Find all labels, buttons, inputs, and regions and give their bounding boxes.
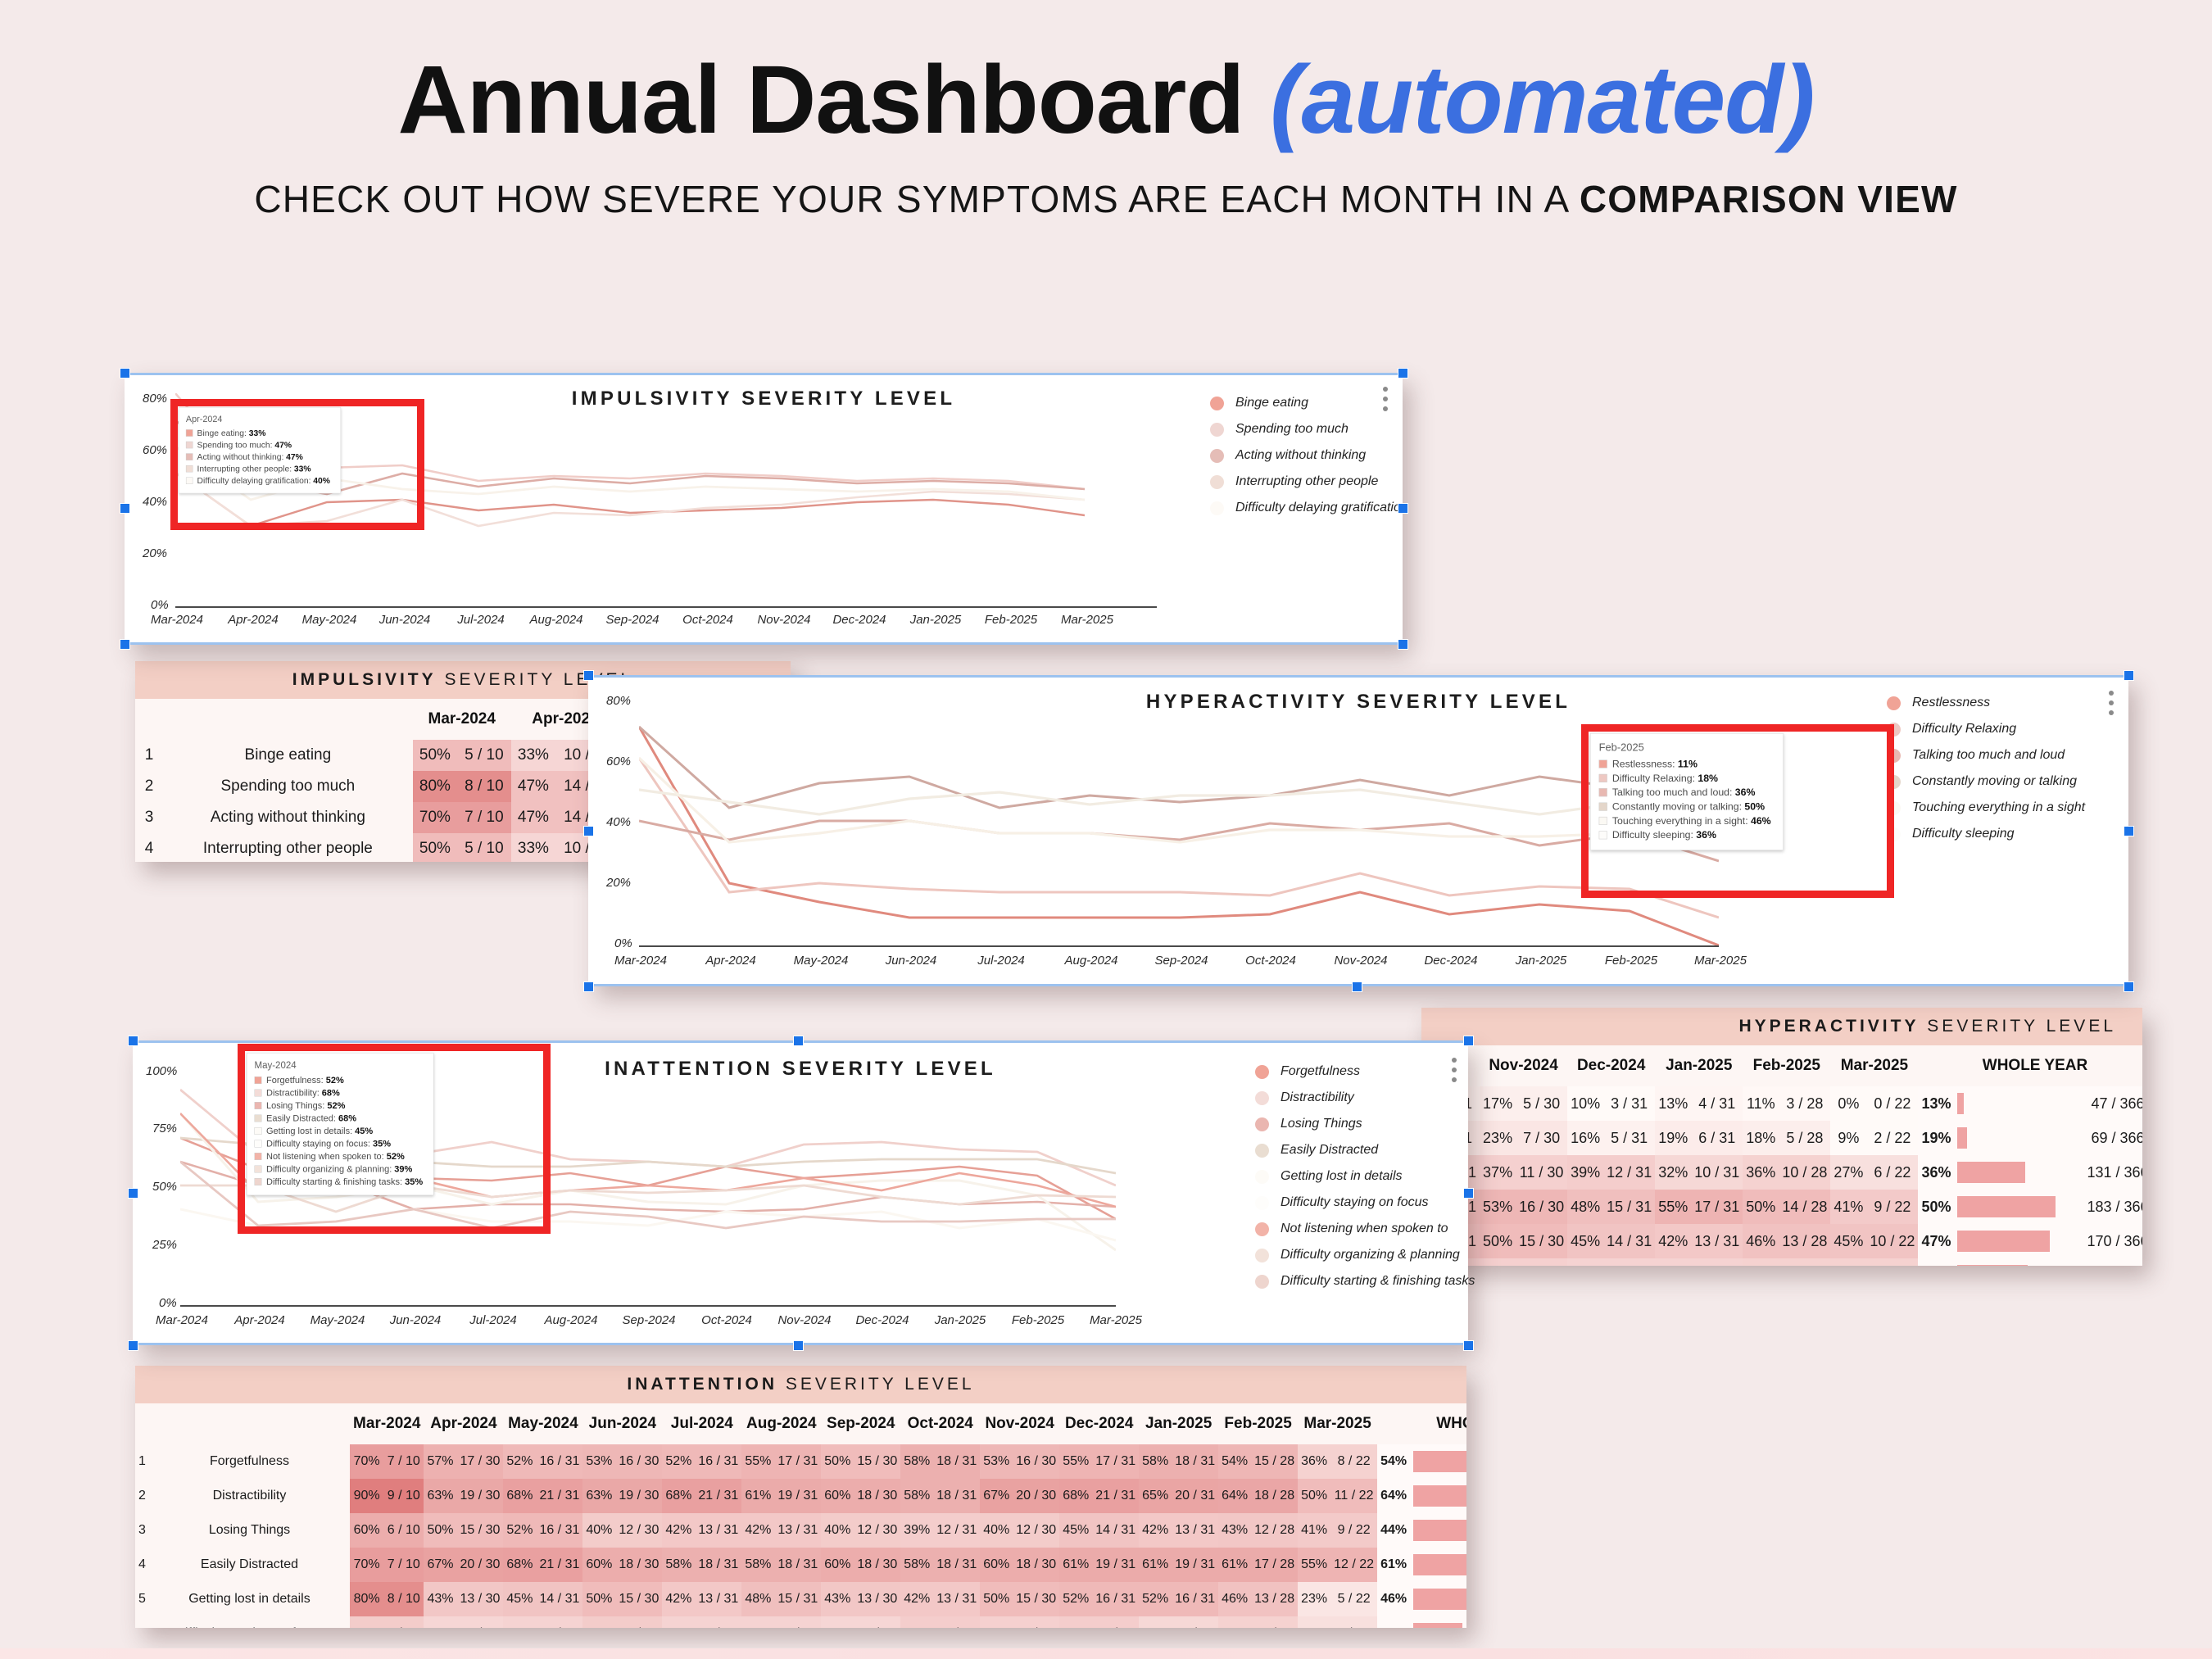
col-month: Mar-2025: [1830, 1045, 1918, 1086]
x-tick: Mar-2024: [614, 954, 667, 968]
x-tick: Jun-2024: [886, 954, 937, 968]
cell-fraction: 12 / 31: [1092, 1616, 1139, 1628]
x-tick: Sep-2024: [605, 613, 659, 627]
col-month: Mar-2025: [1298, 1403, 1377, 1444]
cell-fraction: 12 / 31: [933, 1616, 980, 1628]
cell-fraction: 8 / 22: [1330, 1444, 1377, 1479]
cell-percent: 41%: [1830, 1190, 1866, 1224]
cell-percent: 41%: [1298, 1513, 1330, 1548]
whole-year-bar-track: [1957, 1162, 2080, 1183]
whole-year-bar: [1413, 1589, 1466, 1610]
x-tick: Jul-2024: [977, 954, 1025, 968]
tooltip-swatch: [1599, 774, 1607, 782]
cell-percent: 42%: [1655, 1224, 1691, 1258]
cell-fraction: 13 / 31: [1691, 1224, 1743, 1258]
selection-handle[interactable]: [128, 1188, 138, 1199]
cell-percent: 36%: [1218, 1616, 1251, 1628]
whole-year-bar-track: [1413, 1623, 1466, 1628]
cell-fraction: 9 / 10: [383, 1479, 424, 1513]
row-label: Acting without thinking: [163, 802, 413, 833]
whole-year-bar-cell: [1954, 1258, 2083, 1266]
x-tick: Jun-2024: [390, 1313, 442, 1327]
cell-fraction: 4 / 31: [1691, 1086, 1743, 1121]
cell-percent: 47%: [511, 771, 555, 802]
cell-percent: 42%: [1139, 1513, 1172, 1548]
col-index: [135, 699, 163, 740]
selection-handle[interactable]: [2124, 670, 2134, 681]
tooltip-swatch: [255, 1178, 262, 1185]
cell-percent: 58%: [1139, 1444, 1172, 1479]
tooltip-swatch: [255, 1153, 262, 1160]
legend-item[interactable]: Difficulty starting & finishing tasks: [1255, 1274, 1475, 1289]
selection-handle[interactable]: [1398, 503, 1408, 514]
tooltip-row: Easily Distracted:68%: [255, 1113, 424, 1124]
cell-fraction: 5 / 10: [457, 833, 511, 862]
tooltip-row: Interrupting other people:33%: [186, 464, 330, 474]
table-row: 10 / 3137%11 / 3035%11 / 3135%11 / 3136%…: [1421, 1258, 2142, 1266]
hyperactivity-plot: [639, 696, 1719, 945]
cell-fraction: 8 / 10: [457, 771, 511, 802]
legend-color-dot: [1210, 475, 1224, 489]
x-tick: Jan-2025: [935, 1313, 986, 1327]
selection-handle[interactable]: [2124, 826, 2134, 836]
tooltip-label: Constantly moving or talking:: [1612, 800, 1742, 813]
legend-color-dot: [1255, 1065, 1269, 1079]
legend-item[interactable]: Touching everything in a sight: [1887, 800, 2085, 815]
whole-year-bar: [1413, 1520, 1466, 1541]
whole-year-percent: 54%: [1377, 1444, 1410, 1479]
tooltip-label: Spending too much:: [197, 440, 273, 450]
cell-percent: 80%: [413, 771, 457, 802]
cell-fraction: 18 / 31: [695, 1548, 741, 1582]
tooltip-row: Difficulty sleeping:36%: [1599, 829, 1771, 841]
tooltip-value: 36%: [1735, 786, 1756, 799]
selection-handle[interactable]: [583, 670, 594, 681]
selection-handle[interactable]: [583, 981, 594, 992]
whole-year-bar-track: [1413, 1589, 1466, 1610]
row-index: 1: [135, 1444, 149, 1479]
legend-color-dot: [1255, 1275, 1269, 1289]
cell-fraction: 14 / 31: [1603, 1224, 1655, 1258]
row-label: Losing Things: [149, 1513, 350, 1548]
cell-fraction: 10 / 30: [854, 1616, 900, 1628]
inattention-table-title-rest: SEVERITY LEVEL: [777, 1375, 975, 1394]
x-tick: Feb-2025: [985, 613, 1037, 627]
legend-item[interactable]: Easily Distracted: [1255, 1143, 1475, 1158]
legend-color-dot: [1255, 1091, 1269, 1105]
x-tick: Jan-2025: [1516, 954, 1567, 968]
cell-fraction: 16 / 31: [536, 1513, 582, 1548]
whole-year-bar-track: [1957, 1093, 2080, 1114]
x-tick: Mar-2025: [1090, 1313, 1142, 1327]
cell-fraction: 12 / 30: [854, 1513, 900, 1548]
cell-percent: 67%: [424, 1548, 456, 1582]
page-title-main: Annual Dashboard: [398, 46, 1271, 154]
legend-color-dot: [1255, 1144, 1269, 1158]
cell-fraction: 10 / 31: [1172, 1616, 1218, 1628]
tooltip-label: Losing Things:: [266, 1100, 324, 1111]
cell-percent: 52%: [1059, 1582, 1092, 1616]
whole-year-bar-cell: [1410, 1548, 1466, 1582]
whole-year-bar-cell: [1410, 1582, 1466, 1616]
inattention-table-header: INATTENTION SEVERITY LEVEL: [135, 1366, 1466, 1403]
tooltip-value: 45%: [355, 1126, 373, 1136]
tooltip-value: 47%: [274, 440, 292, 450]
tooltip-swatch: [1599, 788, 1607, 796]
legend-item[interactable]: Difficulty organizing & planning: [1255, 1248, 1475, 1262]
cell-fraction: 7 / 30: [1516, 1121, 1567, 1155]
cell-percent: 52%: [503, 1513, 536, 1548]
legend-item[interactable]: Not listening when spoken to: [1255, 1222, 1475, 1236]
col-index: [135, 1403, 149, 1444]
cell-percent: 50%: [1480, 1224, 1516, 1258]
cell-percent: 17%: [1480, 1086, 1516, 1121]
selection-handle[interactable]: [120, 639, 130, 650]
selection-handle[interactable]: [1398, 368, 1408, 378]
cell-percent: 45%: [1059, 1513, 1092, 1548]
tooltip-label: Difficulty starting & finishing tasks:: [266, 1176, 402, 1187]
whole-year-bar: [1957, 1127, 1967, 1149]
cell-fraction: 11 / 30: [1516, 1258, 1567, 1266]
selection-handle[interactable]: [1398, 639, 1408, 650]
table-row: 5 / 3123%7 / 3016%5 / 3119%6 / 3118%5 / …: [1421, 1121, 2142, 1155]
cell-fraction: 15 / 31: [774, 1582, 821, 1616]
legend-item[interactable]: Difficulty staying on focus: [1255, 1195, 1475, 1210]
cell-fraction: 15 / 30: [854, 1444, 900, 1479]
tooltip-value: 33%: [249, 428, 266, 437]
col-month: Dec-2024: [1567, 1045, 1655, 1086]
whole-year-bar: [1957, 1162, 2025, 1183]
cell-percent: 61%: [741, 1479, 774, 1513]
legend-color-dot: [1255, 1117, 1269, 1131]
row-label: Easily Distracted: [149, 1548, 350, 1582]
hyperactivity-table: 2024 Nov-2024 Dec-2024 Jan-2025 Feb-2025…: [1421, 1045, 2142, 1266]
legend-item[interactable]: Binge eating: [1210, 396, 1408, 410]
hyperactivity-table-title: HYPERACTIVITY SEVERITY LEVEL: [1738, 1017, 2116, 1036]
cell-percent: 57%: [424, 1444, 456, 1479]
x-tick: Nov-2024: [757, 613, 810, 627]
tooltip-label: Difficulty organizing & planning:: [266, 1164, 392, 1175]
whole-year-bar: [1413, 1485, 1466, 1507]
cell-percent: 58%: [662, 1548, 695, 1582]
whole-year-bar-track: [1413, 1520, 1466, 1541]
table-row: 12 / 3137%11 / 3039%12 / 3132%10 / 3136%…: [1421, 1155, 2142, 1190]
legend-label: Losing Things: [1281, 1117, 1362, 1131]
col-month: Jan-2025: [1655, 1045, 1743, 1086]
tooltip-date: Apr-2024: [186, 414, 330, 424]
x-tick: May-2024: [794, 954, 849, 968]
hyperactivity-chart-panel[interactable]: HYPERACTIVITY SEVERITY LEVEL 80% 60% 40%…: [588, 675, 2128, 986]
page-subtitle-pre: CHECK OUT HOW SEVERE YOUR SYMPTOMS ARE E…: [254, 178, 1580, 220]
y-tick: 60%: [143, 443, 167, 457]
cell-percent: 11%: [1743, 1086, 1779, 1121]
inattention-legend: ForgetfulnessDistractibilityLosing Thing…: [1255, 1064, 1475, 1300]
tooltip-swatch: [186, 478, 193, 484]
selection-handle[interactable]: [128, 1036, 138, 1046]
hyperactivity-tooltip: Feb-2025 Restlessness:11%Difficulty Rela…: [1590, 733, 1784, 850]
y-tick: 100%: [146, 1064, 177, 1078]
cell-percent: 40%: [582, 1513, 615, 1548]
y-tick: 0%: [159, 1296, 177, 1310]
cell-percent: 60%: [821, 1479, 854, 1513]
x-tick: Sep-2024: [622, 1313, 675, 1327]
cell-percent: 50%: [821, 1444, 854, 1479]
legend-label: Interrupting other people: [1235, 474, 1378, 489]
cell-percent: 40%: [350, 1616, 383, 1628]
row-index: 3: [135, 802, 163, 833]
cell-percent: 33%: [424, 1616, 456, 1628]
tooltip-value: 33%: [294, 464, 311, 474]
x-tick: Aug-2024: [1064, 954, 1117, 968]
legend-item[interactable]: Difficulty Relaxing: [1887, 722, 2085, 737]
legend-item[interactable]: Acting without thinking: [1210, 448, 1408, 463]
tooltip-row: Acting without thinking:47%: [186, 452, 330, 462]
cell-percent: 53%: [1480, 1190, 1516, 1224]
cell-percent: 35%: [503, 1616, 536, 1628]
cell-fraction: 15 / 30: [456, 1513, 503, 1548]
col-month: Jan-2025: [1139, 1403, 1218, 1444]
tooltip-row: Difficulty Relaxing:18%: [1599, 773, 1771, 785]
cell-percent: 35%: [1655, 1258, 1691, 1266]
cell-percent: 45%: [1830, 1224, 1866, 1258]
selection-handle[interactable]: [793, 1340, 804, 1351]
y-tick: 25%: [152, 1238, 177, 1252]
tooltip-label: Acting without thinking:: [197, 452, 284, 462]
cell-percent: 58%: [900, 1444, 933, 1479]
x-tick: Feb-2025: [1012, 1313, 1064, 1327]
cell-fraction: 3 / 28: [1779, 1086, 1830, 1121]
cell-percent: 52%: [1139, 1582, 1172, 1616]
cell-fraction: 18 / 30: [854, 1548, 900, 1582]
col-month: Sep-2024: [821, 1403, 900, 1444]
x-tick: Apr-2024: [228, 613, 278, 627]
cell-percent: 63%: [582, 1479, 615, 1513]
cell-percent: 54%: [1218, 1444, 1251, 1479]
y-tick: 20%: [143, 546, 167, 560]
y-tick: 0%: [614, 936, 632, 950]
whole-year-bar-cell: [1954, 1155, 2083, 1190]
row-index: 4: [135, 833, 163, 862]
whole-year-percent: 46%: [1377, 1582, 1410, 1616]
cell-percent: 0%: [1830, 1086, 1866, 1121]
tooltip-row: Getting lost in details:45%: [255, 1126, 424, 1136]
legend-item[interactable]: Difficulty delaying gratification: [1210, 501, 1408, 515]
col-month: Dec-2024: [1059, 1403, 1139, 1444]
selection-handle[interactable]: [120, 368, 130, 378]
x-tick: Dec-2024: [832, 613, 886, 627]
chart-menu-icon[interactable]: [2109, 691, 2114, 720]
whole-year-total: 134 / 366: [2083, 1258, 2142, 1266]
cell-percent: 46%: [1218, 1582, 1251, 1616]
tooltip-label: Talking too much and loud:: [1612, 786, 1733, 799]
col-month: Apr-2024: [424, 1403, 503, 1444]
cell-percent: 70%: [350, 1444, 383, 1479]
cell-fraction: 16 / 31: [695, 1444, 741, 1479]
legend-item[interactable]: Constantly moving or talking: [1887, 774, 2085, 789]
cell-percent: 50%: [980, 1582, 1013, 1616]
inattention-table: Mar-2024Apr-2024May-2024Jun-2024Jul-2024…: [135, 1403, 1466, 1628]
cell-fraction: 18 / 28: [1251, 1479, 1298, 1513]
whole-year-bar-track: [1957, 1127, 2080, 1149]
cell-fraction: 15 / 30: [615, 1582, 662, 1616]
cell-fraction: 20 / 30: [1013, 1479, 1059, 1513]
tooltip-row: Not listening when spoken to:52%: [255, 1151, 424, 1162]
whole-year-percent: 50%: [1918, 1190, 1954, 1224]
row-index: 6: [135, 1616, 149, 1628]
inattention-tooltip: May-2024 Forgetfulness:52%Distractibilit…: [247, 1053, 434, 1195]
tooltip-label: Forgetfulness:: [266, 1075, 324, 1086]
cell-percent: 35%: [741, 1616, 774, 1628]
cell-fraction: 12 / 30: [615, 1616, 662, 1628]
cell-percent: 70%: [413, 802, 457, 833]
cell-fraction: 17 / 31: [1092, 1444, 1139, 1479]
legend-item[interactable]: Forgetfulness: [1255, 1064, 1475, 1079]
legend-item[interactable]: Difficulty sleeping: [1887, 827, 2085, 841]
cell-percent: 55%: [741, 1444, 774, 1479]
whole-year-bar-track: [1413, 1485, 1466, 1507]
cell-fraction: 5 / 28: [1779, 1121, 1830, 1155]
legend-item[interactable]: Restlessness: [1887, 696, 2085, 710]
legend-label: Difficulty staying on focus: [1281, 1195, 1429, 1210]
cell-fraction: 12 / 30: [615, 1513, 662, 1548]
selection-handle[interactable]: [793, 1036, 804, 1046]
x-tick: Oct-2024: [682, 613, 733, 627]
cell-percent: 16%: [1567, 1121, 1603, 1155]
tooltip-value: 68%: [338, 1113, 356, 1124]
cell-percent: 60%: [821, 1548, 854, 1582]
whole-year-bar-cell: [1410, 1444, 1466, 1479]
whole-year-bar-track: [1413, 1554, 1466, 1575]
cell-fraction: 12 / 31: [933, 1513, 980, 1548]
x-axis-line: [639, 945, 1719, 947]
tooltip-label: Touching everything in a sight:: [1612, 815, 1748, 827]
tooltip-swatch: [255, 1090, 262, 1097]
y-tick: 40%: [143, 495, 167, 509]
cell-percent: 55%: [1655, 1190, 1691, 1224]
cell-fraction: 7 / 10: [457, 802, 511, 833]
impulsivity-tooltip: Apr-2024 Binge eating:33%Spending too mu…: [179, 407, 341, 493]
cell-fraction: 21 / 31: [536, 1548, 582, 1582]
legend-item[interactable]: Talking too much and loud: [1887, 748, 2085, 763]
whole-year-bar-track: [1957, 1231, 2080, 1252]
cell-percent: 42%: [662, 1582, 695, 1616]
whole-year-percent: 36%: [1377, 1616, 1410, 1628]
tooltip-swatch: [1599, 831, 1607, 839]
selection-handle[interactable]: [2124, 981, 2134, 992]
whole-year-percent: 44%: [1377, 1513, 1410, 1548]
legend-color-dot: [1255, 1170, 1269, 1184]
tooltip-row: Talking too much and loud:36%: [1599, 786, 1771, 799]
cell-percent: 43%: [821, 1582, 854, 1616]
cell-fraction: 10 / 30: [456, 1616, 503, 1628]
cell-fraction: 18 / 31: [1172, 1444, 1218, 1479]
x-tick: Jun-2024: [379, 613, 431, 627]
selection-handle[interactable]: [1463, 1036, 1474, 1046]
selection-handle[interactable]: [1463, 1188, 1474, 1199]
tooltip-value: 50%: [1744, 800, 1765, 813]
cell-fraction: 11 / 31: [1691, 1258, 1743, 1266]
cell-percent: 27%: [1298, 1616, 1330, 1628]
cell-percent: 43%: [1218, 1513, 1251, 1548]
whole-year-bar-cell: [1954, 1086, 2083, 1121]
col-month: Aug-2024: [741, 1403, 821, 1444]
tooltip-swatch: [186, 453, 193, 460]
cell-fraction: 8 / 22: [1866, 1258, 1918, 1266]
selection-handle[interactable]: [1352, 981, 1362, 992]
cell-percent: 61%: [1218, 1548, 1251, 1582]
cell-percent: 50%: [582, 1582, 615, 1616]
cell-percent: 60%: [582, 1548, 615, 1582]
cell-fraction: 6 / 22: [1330, 1616, 1377, 1628]
cell-percent: 67%: [980, 1479, 1013, 1513]
legend-color-dot: [1887, 696, 1901, 710]
cell-fraction: 11 / 30: [1013, 1616, 1059, 1628]
whole-year-percent: 64%: [1377, 1479, 1410, 1513]
cell-fraction: 6 / 22: [1866, 1155, 1918, 1190]
cell-fraction: 19 / 31: [1092, 1548, 1139, 1582]
tooltip-value: 39%: [394, 1164, 412, 1175]
selection-handle[interactable]: [583, 826, 594, 836]
cell-fraction: 17 / 31: [774, 1444, 821, 1479]
legend-item[interactable]: Spending too much: [1210, 422, 1408, 437]
cell-percent: 40%: [821, 1513, 854, 1548]
y-tick: 40%: [606, 815, 631, 829]
legend-item[interactable]: Distractibility: [1255, 1090, 1475, 1105]
impulsivity-table-title-bold: IMPULSIVITY: [292, 670, 437, 689]
cell-percent: 55%: [1298, 1548, 1330, 1582]
cell-fraction: 18 / 31: [933, 1548, 980, 1582]
whole-year-bar-cell: [1954, 1224, 2083, 1258]
cell-fraction: 16 / 31: [1172, 1582, 1218, 1616]
cell-percent: 68%: [503, 1479, 536, 1513]
whole-year-percent: 37%: [1918, 1258, 1954, 1266]
selection-handle[interactable]: [120, 503, 130, 514]
legend-item[interactable]: Interrupting other people: [1210, 474, 1408, 489]
cell-percent: 35%: [662, 1616, 695, 1628]
tooltip-label: Difficulty delaying gratification:: [197, 476, 311, 486]
legend-item[interactable]: Losing Things: [1255, 1117, 1475, 1131]
cell-percent: 60%: [980, 1548, 1013, 1582]
cell-fraction: 18 / 31: [774, 1548, 821, 1582]
tooltip-value: 36%: [1696, 829, 1716, 841]
cell-percent: 80%: [350, 1582, 383, 1616]
cell-percent: 37%: [1480, 1258, 1516, 1266]
cell-percent: 42%: [741, 1513, 774, 1548]
whole-year-bar-cell: [1410, 1479, 1466, 1513]
cell-fraction: 16 / 30: [1013, 1444, 1059, 1479]
legend-color-dot: [1255, 1196, 1269, 1210]
cell-percent: 47%: [511, 802, 555, 833]
cell-percent: 23%: [1480, 1121, 1516, 1155]
cell-fraction: 18 / 31: [933, 1444, 980, 1479]
legend-item[interactable]: Getting lost in details: [1255, 1169, 1475, 1184]
cell-percent: 50%: [413, 833, 457, 862]
whole-year-bar-cell: [1954, 1190, 2083, 1224]
cell-percent: 48%: [741, 1582, 774, 1616]
legend-color-dot: [1210, 397, 1224, 410]
cell-percent: 10%: [1567, 1086, 1603, 1121]
cell-fraction: 6 / 10: [383, 1513, 424, 1548]
cell-fraction: 21 / 31: [1092, 1479, 1139, 1513]
selection-handle[interactable]: [128, 1340, 138, 1351]
selection-handle[interactable]: [1463, 1340, 1474, 1351]
legend-label: Easily Distracted: [1281, 1143, 1378, 1158]
cell-fraction: 7 / 10: [383, 1444, 424, 1479]
cell-fraction: 14 / 28: [1779, 1190, 1830, 1224]
cell-fraction: 14 / 31: [536, 1582, 582, 1616]
cell-fraction: 13 / 31: [1172, 1513, 1218, 1548]
cell-percent: 58%: [900, 1548, 933, 1582]
